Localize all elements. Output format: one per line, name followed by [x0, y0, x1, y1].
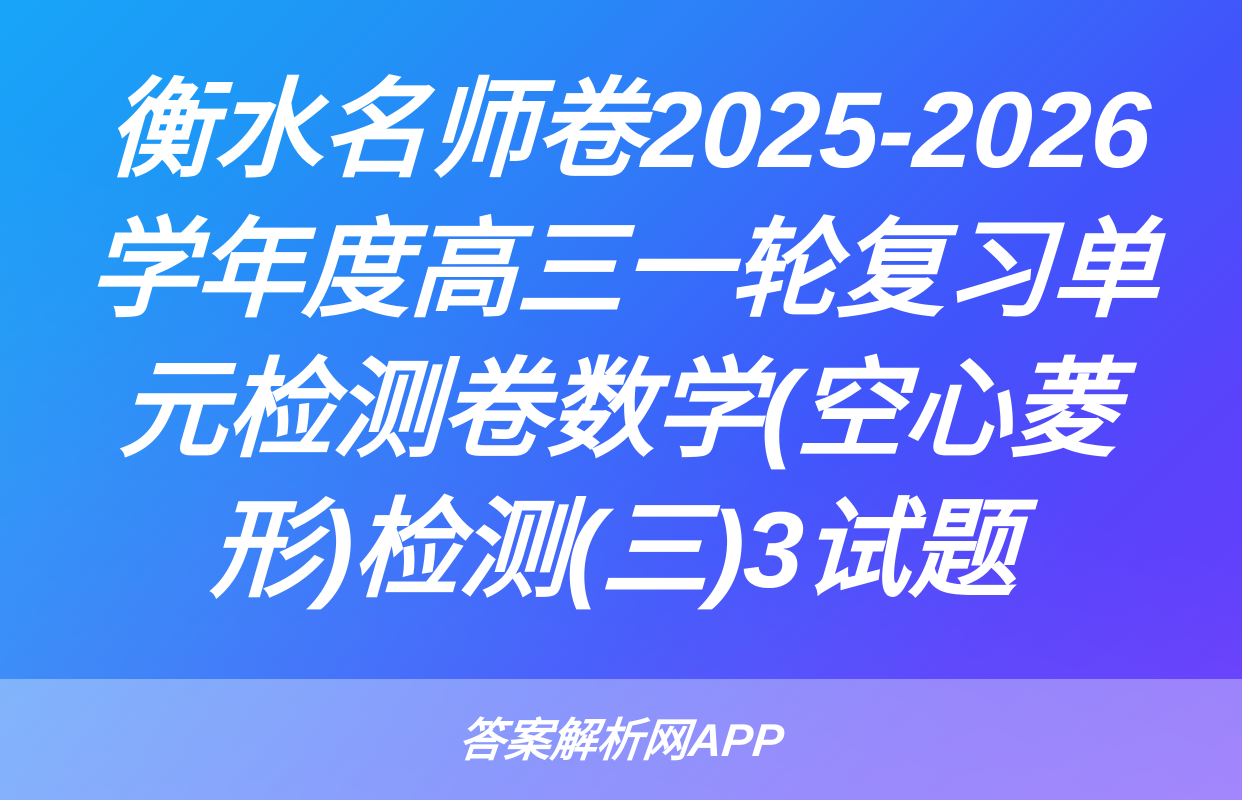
cover-banner: 衡水名师卷2025-2026学年度高三一轮复习单元检测卷数学(空心菱形)检测(三… [0, 0, 1242, 800]
watermark-band: 答案解析网APP [0, 679, 1242, 800]
page-title: 衡水名师卷2025-2026学年度高三一轮复习单元检测卷数学(空心菱形)检测(三… [62, 60, 1180, 620]
watermark-text: 答案解析网APP [456, 717, 785, 763]
title-area: 衡水名师卷2025-2026学年度高三一轮复习单元检测卷数学(空心菱形)检测(三… [0, 0, 1242, 679]
